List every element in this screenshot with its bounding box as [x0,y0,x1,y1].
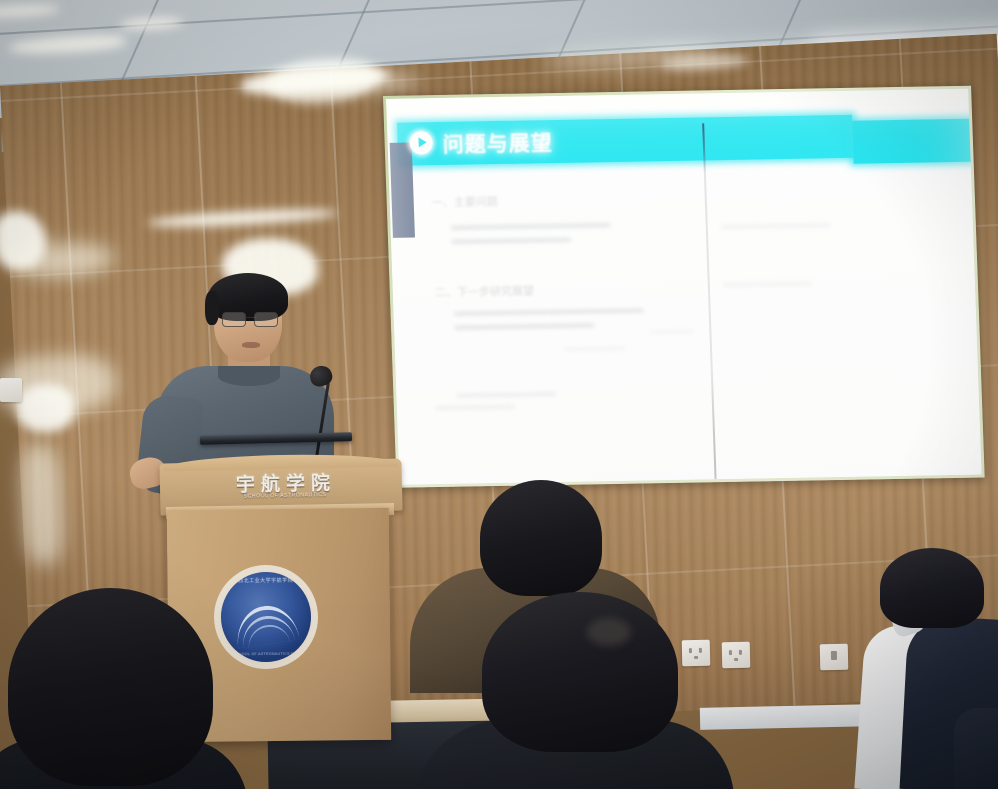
audience-hair [482,592,678,752]
slide-left-tab [390,143,415,238]
audience-hair [880,548,984,628]
audience-hair [8,588,213,786]
presentation-room-photo: 问题与展望 一、主要问题 二、下一步研究展望 [0,0,998,789]
slide-body-line-1: 一、主要问题 [431,193,498,210]
slide: 问题与展望 一、主要问题 二、下一步研究展望 [386,89,981,485]
screen-surface: 问题与展望 一、主要问题 二、下一步研究展望 [386,89,981,485]
dual-projector-seam [702,123,716,479]
slide-title: 问题与展望 [442,127,553,159]
audience-vest-arm [954,708,998,789]
audience-masked-vest [818,548,998,789]
projection-screen: 问题与展望 一、主要问题 二、下一步研究展望 [383,86,985,488]
presenter-mouth [242,342,260,348]
slide-title-bar-right [852,115,981,163]
presenter-collar [218,366,280,386]
audience-left-long-hair [0,588,240,789]
audience-hair-part [587,618,631,646]
emblem-ring-text-cn: 西北工业大学宇航学院 [221,577,311,585]
glasses-icon [222,312,278,325]
audience-dark-hair-front [462,592,692,789]
slide-body-line-2: 二、下一步研究展望 [435,282,535,300]
wall-plate-left [0,378,22,402]
power-outlet-plate-2 [722,642,751,669]
audience-hair [480,480,602,596]
